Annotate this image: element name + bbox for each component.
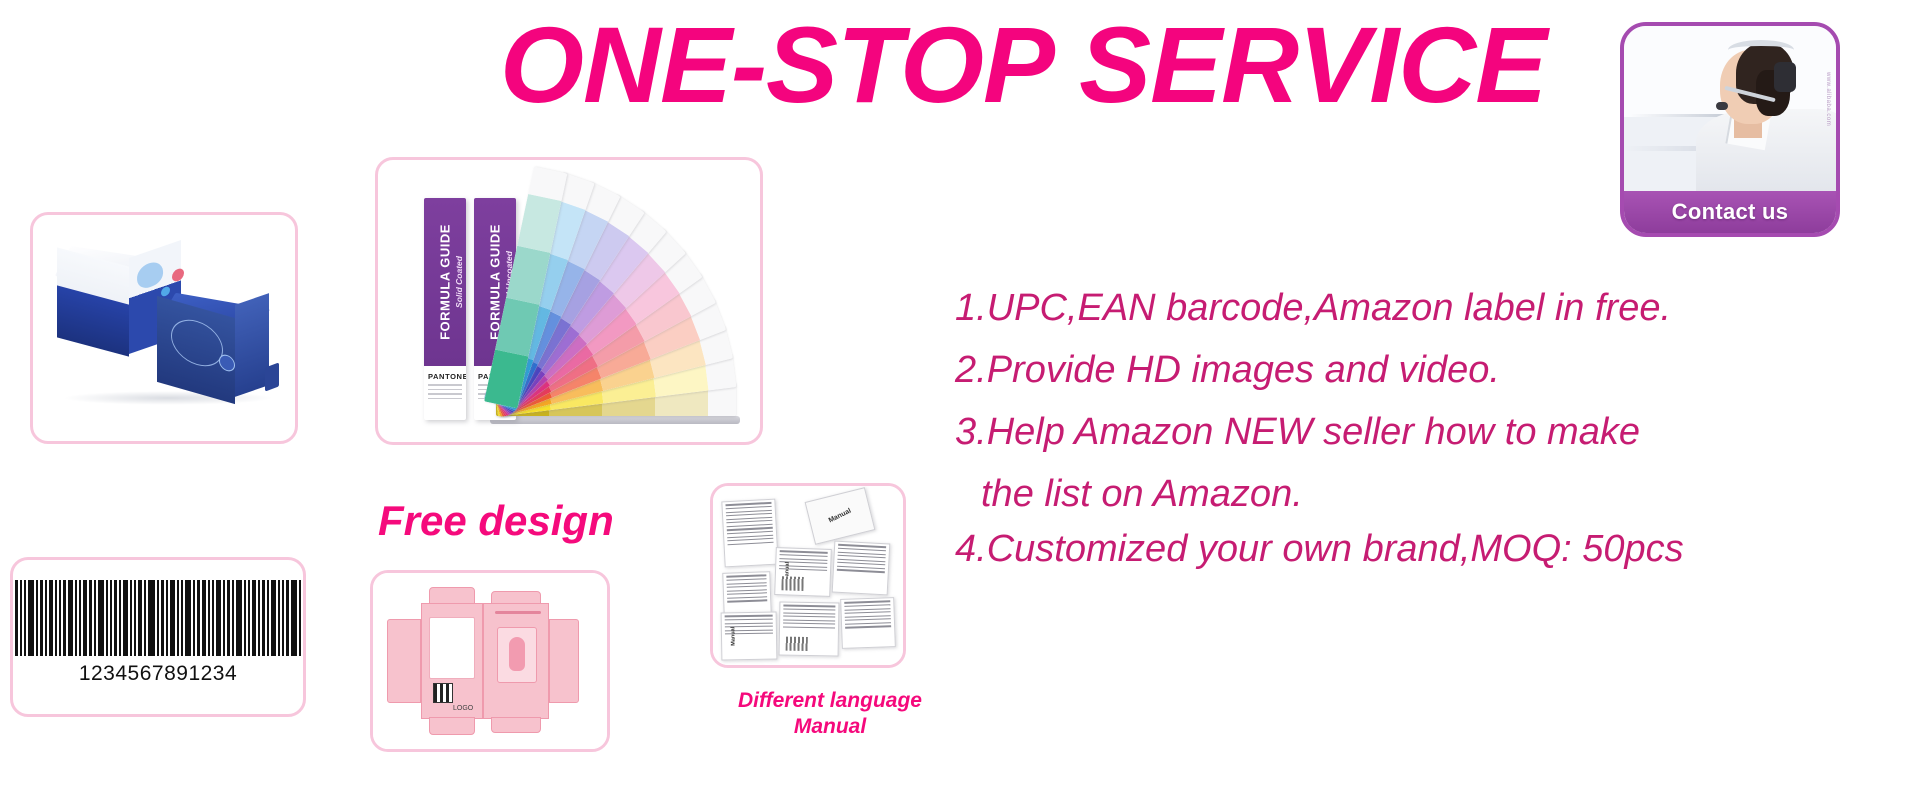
photo-highlight-line: [1630, 114, 1726, 117]
dieline-logo-label: LOGO: [453, 705, 473, 712]
card-dieline-template[interactable]: LOGO: [370, 570, 610, 752]
barcode-bar: [20, 580, 22, 656]
barcode-bar: [185, 580, 191, 656]
free-design-label: Free design: [378, 497, 614, 545]
barcode-bar: [170, 580, 175, 656]
manual-booklet: Manual: [805, 487, 876, 545]
barcode-bar: [193, 580, 195, 656]
guide-brand: PANTONE: [428, 372, 466, 381]
dieline-bottom-tab: [491, 717, 541, 733]
manual-caption-line1: Different language: [700, 688, 960, 714]
headset-band-icon: [1728, 40, 1794, 60]
barcode-bar: [83, 580, 87, 656]
barcode-bar: [303, 580, 305, 656]
barcode-bar: [223, 580, 225, 656]
barcode-bar: [89, 580, 92, 656]
barcode-bar: [138, 580, 142, 656]
barcode-bar: [114, 580, 117, 656]
contact-us-label: Contact us: [1672, 199, 1789, 225]
barcode-bar: [75, 580, 77, 656]
barcode-bar: [45, 580, 47, 656]
fan-blades: [496, 184, 746, 416]
pantone-guide-coated: FORMULA GUIDE Solid Coated PANTONE: [424, 198, 466, 420]
barcode-bar: [248, 580, 250, 656]
card-manuals[interactable]: Manual Manual Manual: [710, 483, 906, 668]
booklet-label: Manual: [828, 508, 853, 525]
dieline-left-flap: [387, 619, 421, 703]
barcode-bar: [286, 580, 289, 656]
service-list-item-2: 2.Provide HD images and video.: [955, 350, 1875, 391]
barcode-bar: [123, 580, 128, 656]
barcode-bar: [252, 580, 256, 656]
sheet-side-label: Manual: [730, 627, 736, 646]
barcode-bar: [227, 580, 230, 656]
guide-text-lines: [428, 384, 462, 402]
barcode-bar: [49, 580, 53, 656]
service-list-item-4: the list on Amazon.: [955, 474, 1875, 515]
card-barcode-label[interactable]: 1234567891234: [10, 557, 306, 717]
manual-sheet: Manual: [774, 547, 832, 597]
blue-box-pull-tab: [265, 362, 279, 391]
service-list-item-5: 4.Customized your own brand,MOQ: 50pcs: [955, 529, 1875, 570]
barcode-bar: [208, 580, 210, 656]
one-stop-service-banner: ONE-STOP SERVICE www.alibaba.com Contact…: [0, 0, 1920, 800]
barcode-bar: [282, 580, 284, 656]
manual-caption: Different language Manual: [700, 688, 960, 741]
barcode-bar: [262, 580, 265, 656]
manual-sheet: Manual: [721, 612, 778, 661]
fan-base: [490, 416, 740, 424]
barcode-bar: [11, 580, 13, 656]
dieline-artwork-shape: [509, 637, 525, 671]
barcode-bar: [181, 580, 183, 656]
barcode-bar: [271, 580, 276, 656]
manual-sheets-illustration: Manual Manual Manual: [713, 486, 903, 665]
barcode-bar: [28, 580, 34, 656]
barcode-bar: [267, 580, 269, 656]
barcode-bar: [278, 580, 280, 656]
barcode-bar: [36, 580, 38, 656]
barcode-bar: [212, 580, 214, 656]
barcode-bar: [59, 580, 61, 656]
service-list-item-1: 1.UPC,EAN barcode,Amazon label in free.: [955, 288, 1875, 329]
barcode-bar: [130, 580, 132, 656]
barcode-bar: [291, 580, 297, 656]
barcode-bar: [68, 580, 73, 656]
qr-code-icon: [433, 683, 453, 703]
barcode-bar: [232, 580, 234, 656]
service-list: 1.UPC,EAN barcode,Amazon label in free.2…: [955, 288, 1875, 591]
barcode-bar: [148, 580, 155, 656]
barcode-bar: [40, 580, 43, 656]
barcode-bar: [197, 580, 200, 656]
barcode-bar: [166, 580, 168, 656]
barcode-bar: [106, 580, 108, 656]
pantone-fan-deck-illustration: FORMULA GUIDE Solid Coated PANTONE FORMU…: [378, 160, 760, 442]
manual-caption-line2: Manual: [700, 714, 960, 740]
manual-sheet: [840, 597, 896, 649]
blue-box-side: [235, 293, 269, 397]
dieline-right-flap: [549, 619, 579, 703]
barcode-bar: [134, 580, 136, 656]
dieline-illustration: LOGO: [373, 573, 607, 749]
barcode-graphic: 1234567891234: [13, 580, 303, 686]
barcode-bar: [236, 580, 242, 656]
dieline-text-line: [495, 611, 541, 614]
manual-sheet: [722, 571, 772, 617]
contact-us-badge[interactable]: www.alibaba.com Contact us: [1620, 22, 1840, 237]
contact-us-bar[interactable]: Contact us: [1624, 191, 1836, 233]
barcode-bar: [15, 580, 18, 656]
manual-sheet: [721, 499, 778, 568]
agent-photo: www.alibaba.com: [1624, 26, 1836, 191]
barcode-number: 1234567891234: [79, 662, 237, 686]
dieline-window: [429, 617, 475, 679]
sheet-diagram: [786, 637, 808, 651]
card-gift-box[interactable]: [30, 212, 298, 444]
barcode-bars: [10, 580, 306, 656]
barcode-bar: [63, 580, 66, 656]
barcode-bar: [299, 580, 301, 656]
barcode-bar: [79, 580, 81, 656]
barcode-bar: [161, 580, 164, 656]
barcode-bar: [177, 580, 179, 656]
barcode-bar: [110, 580, 112, 656]
barcode-bar: [258, 580, 260, 656]
guide-subtitle: Solid Coated: [454, 256, 464, 308]
headset-earcup-icon: [1774, 62, 1796, 92]
barcode-bar: [119, 580, 121, 656]
manual-sheet: [779, 601, 840, 656]
sheet-diagram: [781, 576, 803, 591]
barcode-bar: [244, 580, 246, 656]
card-pantone-guide[interactable]: FORMULA GUIDE Solid Coated PANTONE FORMU…: [375, 157, 763, 445]
barcode-bar: [94, 580, 96, 656]
dieline-bottom-tab: [429, 717, 475, 735]
guide-title: FORMULA GUIDE: [438, 224, 453, 340]
service-list-item-3: 3.Help Amazon NEW seller how to make: [955, 412, 1875, 453]
barcode-bar: [98, 580, 104, 656]
barcode-bar: [157, 580, 159, 656]
photo-watermark: www.alibaba.com: [1825, 72, 1831, 126]
guide-cap: FORMULA GUIDE Solid Coated: [424, 198, 466, 366]
barcode-bar: [144, 580, 146, 656]
gift-box-illustration: [33, 215, 295, 441]
manual-sheet: [832, 541, 891, 596]
page-title: ONE-STOP SERVICE: [500, 8, 1500, 121]
barcode-bar: [202, 580, 206, 656]
headset-mic-icon: [1716, 102, 1728, 110]
barcode-bar: [55, 580, 57, 656]
barcode-bar: [24, 580, 26, 656]
barcode-bar: [216, 580, 221, 656]
